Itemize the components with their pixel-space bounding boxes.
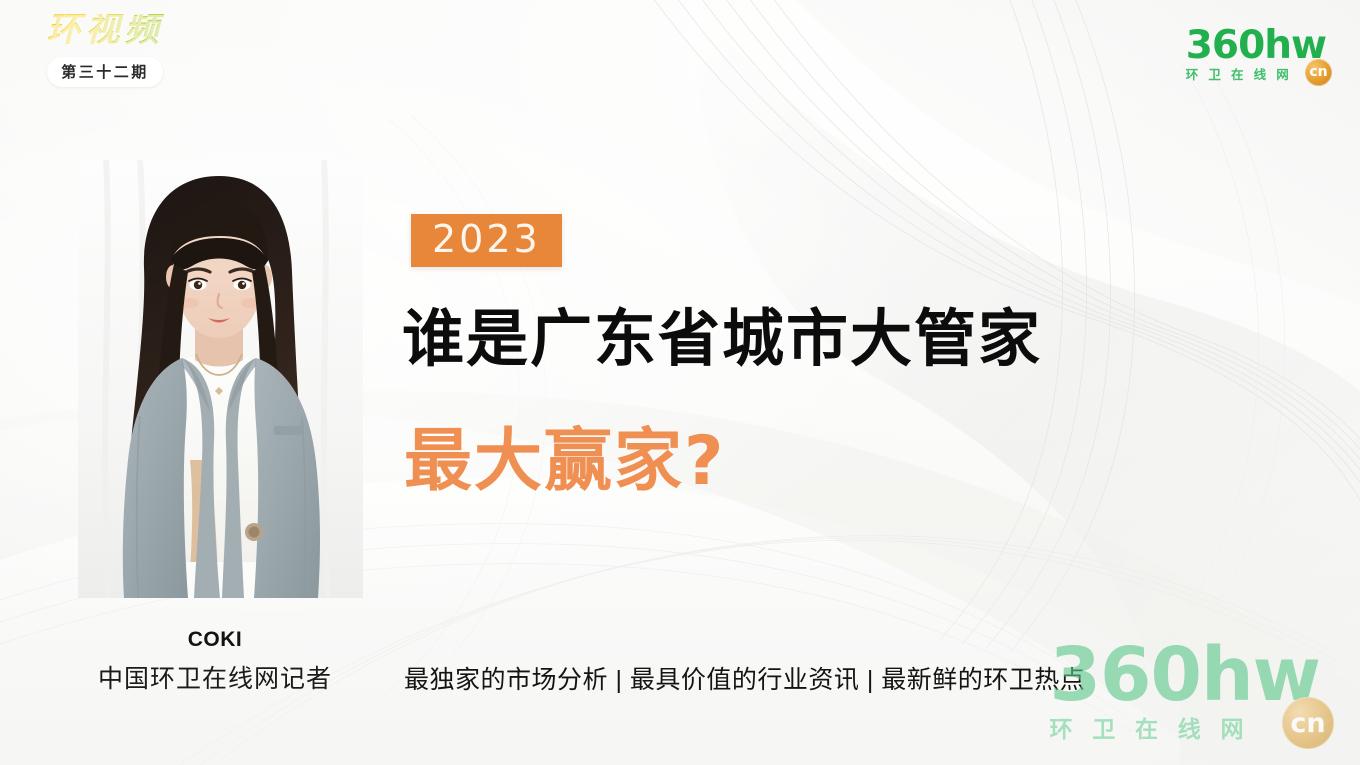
footer-tagline: 最独家的市场分析 | 最具价值的行业资讯 | 最新鲜的环卫热点 [404,660,1085,696]
headline-line-1: 谁是广东省城市大管家 [402,308,1042,370]
presenter-name: COKI [0,628,430,652]
issue-badge-label: 第三十二期 [61,65,149,81]
watermark-subline: 环卫在线网 [1049,718,1245,741]
logo-wordmark: 360hw [1186,26,1326,65]
logo-subline: 环卫在线网 [1186,69,1290,82]
presenter-role: 中国环卫在线网记者 [0,659,430,695]
brand-logo-360hw[interactable]: 360hw 环卫在线网 cn [1186,26,1326,82]
headline-line-2: 最大赢家? [404,428,725,496]
watermark-logo-360hw: 360hw 环卫在线网 cn [1049,638,1320,741]
series-title: 环视频 [30,14,180,48]
video-cover-slide: 环视频 第三十二期 360hw 环卫在线网 cn [0,0,1360,765]
series-brand-block: 环视频 第三十二期 [30,14,180,87]
issue-badge: 第三十二期 [47,57,163,87]
cn-badge-icon: cn [1305,59,1332,86]
watermark-cn-badge-icon: cn [1282,697,1334,749]
year-badge: 2023 [411,214,562,267]
year-badge-label: 2023 [432,217,541,261]
watermark-wordmark: 360hw [1049,638,1320,712]
presenter-photo [78,160,363,598]
